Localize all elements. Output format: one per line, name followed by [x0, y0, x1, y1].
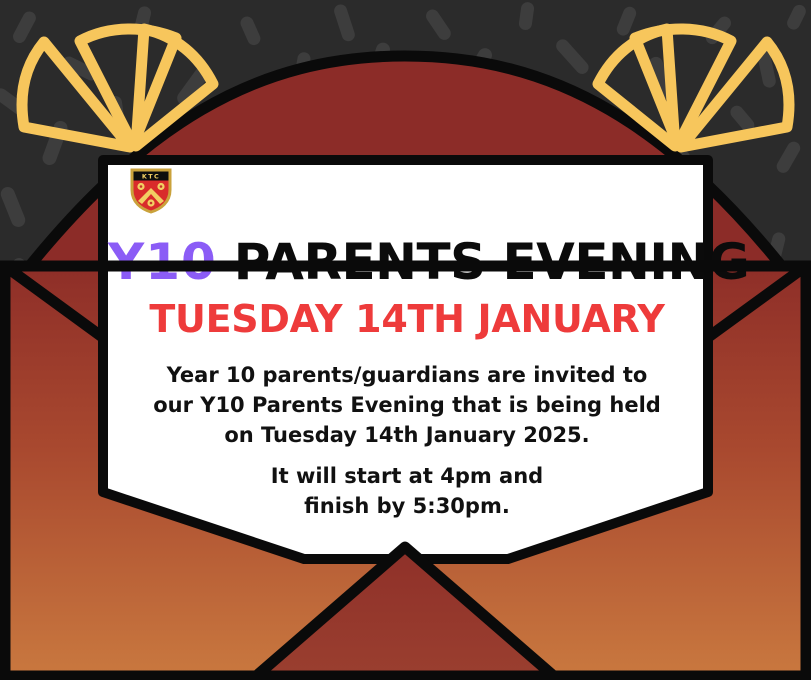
poster-canvas: KTC KTC Y10 PARENTS EVENING TUESDAY 14TH…: [0, 0, 811, 680]
envelope-front-flap: [0, 0, 811, 680]
